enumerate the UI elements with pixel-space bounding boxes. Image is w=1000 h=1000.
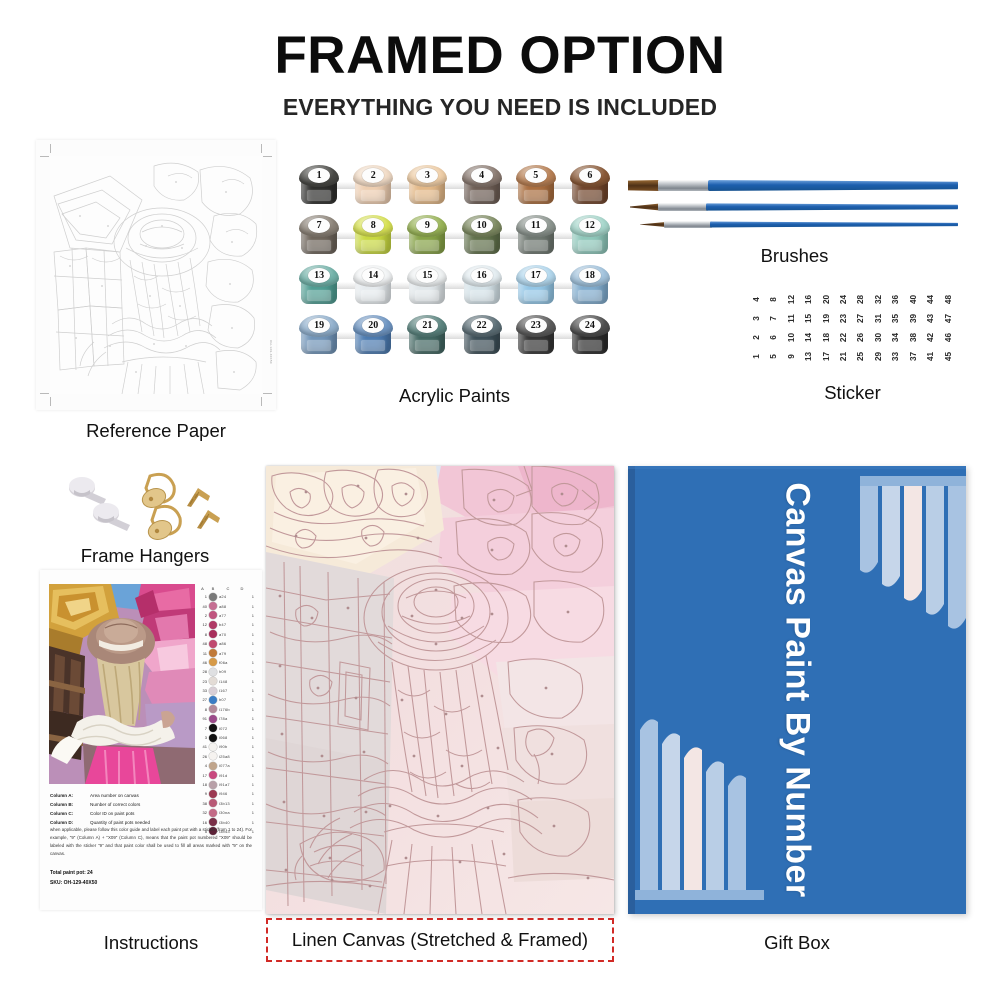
- legend-quantity: 1: [252, 773, 254, 778]
- sticker-number: 37: [904, 348, 923, 365]
- legend-quantity: 1: [252, 697, 254, 702]
- frame-hangers-illustration: [58, 468, 236, 546]
- legend-quantity: 1: [252, 651, 254, 656]
- caption-gift-box: Gift Box: [628, 932, 966, 954]
- paint-pot-number: 16: [471, 268, 493, 283]
- page-subtitle: EVERYTHING YOU NEED IS INCLUDED: [0, 94, 1000, 121]
- caption-sticker: Sticker: [740, 382, 965, 404]
- legend-area-number: 3: [198, 735, 207, 740]
- paint-pot-number: 9: [416, 218, 438, 233]
- paint-pot: 8: [353, 215, 393, 256]
- paint-pot: 15: [407, 265, 447, 306]
- legend-color-swatch: [209, 752, 217, 760]
- paint-pot-number: 22: [471, 318, 493, 333]
- paint-pot-number: 20: [362, 318, 384, 333]
- linen-canvas-item: [266, 466, 614, 914]
- legend-row: 23i1481: [198, 677, 254, 686]
- brush-flat-handle: [708, 180, 958, 191]
- caption-linen-canvas: Linen Canvas (Stretched & Framed): [268, 920, 612, 960]
- paint-pot: 7: [299, 215, 339, 256]
- legend-row: 1a241: [198, 592, 254, 601]
- legend-area-number: 2: [198, 613, 207, 618]
- paint-pot: 20: [353, 315, 393, 356]
- sticker-number: 13: [799, 348, 818, 365]
- gift-box-body: Canvas Paint By Number: [628, 466, 966, 914]
- legend-color-swatch: [209, 677, 217, 685]
- paint-pot-number: 14: [362, 268, 384, 283]
- legend-area-number: 11: [198, 651, 207, 656]
- legend-color-code: a88: [219, 604, 226, 609]
- sticker-number: 14: [799, 329, 818, 346]
- crop-mark-bl-v: [50, 397, 51, 406]
- paint-pot-number: 18: [579, 268, 601, 283]
- sticker-number: 8: [765, 291, 784, 308]
- legend-color-code: i077a: [219, 763, 230, 768]
- brush-flat-ferrule: [658, 180, 710, 191]
- sticker-number: 36: [887, 291, 906, 308]
- legend-color-swatch: [209, 602, 217, 610]
- legend-color-code: i91d: [219, 773, 227, 778]
- legend-color-code: i167: [219, 688, 227, 693]
- crop-mark-br-v: [261, 397, 262, 406]
- legend-color-code: i072: [219, 726, 227, 731]
- legend-area-number: 17: [198, 773, 207, 778]
- legend-header-row: ABCD: [198, 584, 254, 592]
- legend-color-code: h09: [219, 669, 226, 674]
- screw-2: [197, 510, 220, 529]
- legend-color-swatch: [209, 705, 217, 713]
- brush-fine-handle: [710, 221, 958, 228]
- legend-quantity: 1: [252, 679, 254, 684]
- legend-color-code: a79: [219, 651, 226, 656]
- legend-row: 2a771: [198, 611, 254, 620]
- sticker-number: 25: [852, 348, 871, 365]
- legend-color-swatch: [209, 630, 217, 638]
- legend-area-number: 12: [198, 622, 207, 627]
- paint-pot-number: 8: [362, 218, 384, 233]
- legend-quantity: 1: [252, 810, 254, 815]
- legend-row: 8i176b1: [198, 705, 254, 714]
- caption-instructions: Instructions: [40, 932, 262, 954]
- legend-row: 46f06a1: [198, 658, 254, 667]
- legend-color-swatch: [209, 762, 217, 770]
- crop-mark-tr-v: [261, 144, 262, 153]
- legend-quantity: 1: [252, 604, 254, 609]
- legend-quantity: 1: [252, 754, 254, 759]
- legend-area-number: 33: [198, 688, 207, 693]
- total-paint-pots-value: 24: [87, 870, 93, 876]
- legend-area-number: 91: [198, 716, 207, 721]
- legend-color-code: i176b: [219, 707, 230, 712]
- page-title: FRAMED OPTION: [0, 28, 1000, 84]
- paint-pot-number: 24: [579, 318, 601, 333]
- instruction-column-desc: Area number on canvas: [90, 792, 139, 801]
- paint-pot-number: 4: [471, 168, 493, 183]
- sticker-number: 34: [887, 329, 906, 346]
- legend-row: 48a861: [198, 639, 254, 648]
- legend-area-number: 8: [198, 632, 207, 637]
- sticker-number: 17: [817, 348, 836, 365]
- caption-frame-hangers: Frame Hangers: [20, 545, 270, 567]
- instruction-column-row: Column B:Number of correct colors: [50, 801, 250, 810]
- paint-pot-number: 2: [362, 168, 384, 183]
- sticker-number: 5: [765, 348, 784, 365]
- legend-quantity: 1: [252, 632, 254, 637]
- instructions-item: ABCD1a24140a8812a77112b4718a70148a86111a…: [40, 570, 262, 910]
- sticker-number: 27: [852, 310, 871, 327]
- legend-color-swatch: [209, 658, 217, 666]
- legend-quantity: 1: [252, 594, 254, 599]
- paint-pot: 11: [516, 215, 556, 256]
- legend-color-code: i91a7: [219, 782, 230, 787]
- screw-1: [187, 488, 210, 507]
- legend-area-number: 40: [198, 604, 207, 609]
- paint-pot-number: 3: [416, 168, 438, 183]
- sticker-number: 20: [817, 291, 836, 308]
- legend-color-code: i90b: [219, 744, 227, 749]
- paint-pot: 1: [299, 165, 339, 206]
- paint-pot: 5: [516, 165, 556, 206]
- legend-color-swatch: [209, 734, 217, 742]
- brush-medium-bristles: [630, 203, 660, 211]
- legend-header-cell: B: [209, 586, 217, 591]
- legend-area-number: 27: [198, 697, 207, 702]
- legend-color-swatch: [209, 611, 217, 619]
- legend-row: 40a881: [198, 601, 254, 610]
- caption-acrylic-paints: Acrylic Paints: [292, 385, 617, 407]
- sticker-number: 44: [921, 291, 940, 308]
- legend-quantity: 1: [252, 744, 254, 749]
- frame-hangers-item: [58, 468, 236, 546]
- paint-pot: 14: [353, 265, 393, 306]
- sticker-number: 45: [939, 348, 958, 365]
- legend-header-cell: C: [219, 586, 237, 591]
- legend-color-swatch: [209, 715, 217, 723]
- brush-fine-ferrule: [664, 221, 712, 228]
- gift-box-label: Canvas Paint By Number: [778, 482, 817, 897]
- product-infographic: FRAMED OPTION EVERYTHING YOU NEED IS INC…: [0, 0, 1000, 1000]
- reference-paper-item: OH-129-40X50: [36, 140, 276, 410]
- sticker-number: 16: [799, 291, 818, 308]
- paint-pot: 3: [407, 165, 447, 206]
- brush-flat-bristles: [628, 180, 660, 191]
- legend-header-cell: A: [198, 586, 207, 591]
- sticker-number: 15: [799, 310, 818, 327]
- reference-paper-lineart: [50, 156, 262, 394]
- brush-flat: [628, 180, 958, 191]
- sticker-number: 10: [782, 329, 801, 346]
- paint-pot-number: 12: [579, 218, 601, 233]
- legend-area-number: 23: [198, 679, 207, 684]
- legend-color-swatch: [209, 621, 217, 629]
- linen-canvas-highlight-box: Linen Canvas (Stretched & Framed): [266, 918, 614, 962]
- legend-quantity: 1: [252, 801, 254, 806]
- paint-pot: 2: [353, 165, 393, 206]
- paint-pot-number: 5: [525, 168, 547, 183]
- sticker-number: 12: [782, 291, 801, 308]
- linen-canvas-artwork: [266, 466, 614, 914]
- legend-quantity: 1: [252, 641, 254, 646]
- legend-color-swatch: [209, 593, 217, 601]
- legend-quantity: 1: [252, 688, 254, 693]
- paint-pot: 9: [407, 215, 447, 256]
- legend-quantity: 1: [252, 735, 254, 740]
- legend-quantity: 1: [252, 707, 254, 712]
- paint-pot: 24: [570, 315, 610, 356]
- instructions-note: when applicable, please follow this colo…: [50, 826, 252, 859]
- crop-mark-tr-h: [263, 156, 272, 157]
- legend-area-number: 4: [198, 763, 207, 768]
- legend-color-code: b47: [219, 622, 226, 627]
- legend-quantity: 1: [252, 622, 254, 627]
- legend-color-swatch: [209, 668, 217, 676]
- legend-quantity: 1: [252, 726, 254, 731]
- legend-color-code: a70: [219, 632, 226, 637]
- sticker-number: 41: [921, 348, 940, 365]
- paint-pot-number: 21: [416, 318, 438, 333]
- legend-quantity: 1: [252, 660, 254, 665]
- sticker-number: 9: [782, 348, 801, 365]
- legend-area-number: 1: [198, 594, 207, 599]
- sticker-number: 46: [939, 329, 958, 346]
- paint-pot: 12: [570, 215, 610, 256]
- legend-row: 17i91d1: [198, 770, 254, 779]
- legend-area-number: 41: [198, 744, 207, 749]
- sticker-number: 39: [904, 310, 923, 327]
- legend-quantity: 1: [252, 669, 254, 674]
- paint-pot: 4: [462, 165, 502, 206]
- paint-pot: 16: [462, 265, 502, 306]
- legend-area-number: 46: [198, 660, 207, 665]
- legend-area-number: 18: [198, 782, 207, 787]
- paint-pot: 17: [516, 265, 556, 306]
- gift-box-item: Canvas Paint By Number: [628, 466, 966, 914]
- sticker-number-grid: 4812162024283236404448371115192327313539…: [748, 290, 957, 366]
- instruction-column-key: Column B:: [50, 801, 84, 810]
- sku-value: OH-129-40X50: [64, 880, 98, 886]
- crop-mark-tl-v: [50, 144, 51, 153]
- legend-row: 7i0721: [198, 723, 254, 732]
- paint-pot: 18: [570, 265, 610, 306]
- sticker-number: 35: [887, 310, 906, 327]
- paint-pot: 23: [516, 315, 556, 356]
- paint-pot-number: 13: [308, 268, 330, 283]
- sticker-number: 7: [765, 310, 784, 327]
- legend-quantity: 1: [252, 716, 254, 721]
- legend-color-swatch: [209, 771, 217, 779]
- legend-row: 18i91a71: [198, 780, 254, 789]
- paint-pot: 21: [407, 315, 447, 356]
- legend-row: 91i78a1: [198, 714, 254, 723]
- paint-pot-number: 10: [471, 218, 493, 233]
- legend-color-swatch: [209, 696, 217, 704]
- legend-quantity: 1: [252, 763, 254, 768]
- sticker-number: 6: [765, 329, 784, 346]
- legend-color-swatch: [209, 687, 217, 695]
- sticker-number: 40: [904, 291, 923, 308]
- instruction-column-desc: Color ID on paint pots: [90, 810, 134, 819]
- legend-area-number: 26: [198, 754, 207, 759]
- legend-color-code: a24: [219, 594, 226, 599]
- instruction-column-key: Column A:: [50, 792, 84, 801]
- legend-color-swatch: [209, 649, 217, 657]
- legend-color-code: a77: [219, 613, 226, 618]
- sku-label: SKU:: [50, 880, 62, 886]
- header: FRAMED OPTION EVERYTHING YOU NEED IS INC…: [0, 28, 1000, 121]
- sticker-number: 28: [852, 291, 871, 308]
- sticker-sheet: 4812162024283236404448371115192327313539…: [740, 282, 965, 374]
- wall-plug-2: [93, 503, 130, 531]
- paint-pot-number: 15: [416, 268, 438, 283]
- brush-medium: [630, 203, 958, 211]
- legend-color-code: i78a: [219, 716, 227, 721]
- instruction-column-key: Column C:: [50, 810, 84, 819]
- paint-pot-number: 11: [525, 218, 547, 233]
- brush-fine-bristles: [640, 221, 666, 228]
- sticker-number: 33: [887, 348, 906, 365]
- legend-row: 27h071: [198, 695, 254, 704]
- brush-medium-ferrule: [658, 203, 708, 211]
- sticker-number: 48: [939, 291, 958, 308]
- brush-fine: [640, 221, 958, 228]
- legend-row: 41i90b1: [198, 742, 254, 751]
- legend-row: 26i25a81: [198, 752, 254, 761]
- legend-row: 12b471: [198, 620, 254, 629]
- instructions-sheet: ABCD1a24140a8812a77112b4718a70148a86111a…: [40, 570, 262, 910]
- instructions-thumbnail: [49, 584, 195, 784]
- instructions-column-key: Column A:Area number on canvasColumn B:N…: [50, 792, 250, 828]
- legend-color-swatch: [209, 724, 217, 732]
- legend-area-number: 7: [198, 726, 207, 731]
- brush-medium-handle: [706, 203, 958, 211]
- sticker-number: 11: [782, 310, 801, 327]
- legend-color-code: i25a8: [219, 754, 230, 759]
- legend-row: 3i0681: [198, 733, 254, 742]
- legend-area-number: 28: [198, 669, 207, 674]
- legend-area-number: 48: [198, 641, 207, 646]
- legend-header-cell: D: [239, 586, 245, 591]
- sku-line: SKU: OH-129-40X50: [50, 879, 252, 889]
- sticker-number: 47: [939, 310, 958, 327]
- legend-row: 11a791: [198, 648, 254, 657]
- legend-color-code: h07: [219, 697, 226, 702]
- paint-pot-grid: 123456789101112131415161718192021222324: [292, 160, 617, 360]
- linen-canvas-frame: [266, 466, 614, 914]
- legend-color-code: f06a: [219, 660, 228, 665]
- wall-plug-1: [69, 477, 106, 505]
- paint-pot-number: 1: [308, 168, 330, 183]
- legend-quantity: 1: [252, 791, 254, 796]
- paint-pot-number: 19: [308, 318, 330, 333]
- instruction-column-desc: Number of correct colors: [90, 801, 140, 810]
- legend-row: 8a701: [198, 630, 254, 639]
- total-paint-pots-line: Total paint pot: 24: [50, 869, 252, 879]
- legend-quantity: 1: [252, 782, 254, 787]
- sticker-number: 42: [921, 329, 940, 346]
- sticker-number: 19: [817, 310, 836, 327]
- paint-pot-number: 17: [525, 268, 547, 283]
- sticker-number: 38: [904, 329, 923, 346]
- paint-pot: 19: [299, 315, 339, 356]
- instruction-column-row: Column C:Color ID on paint pots: [50, 810, 250, 819]
- legend-row: 4i077a1: [198, 761, 254, 770]
- total-paint-pots-label: Total paint pot:: [50, 870, 86, 876]
- crop-mark-bl-h: [40, 393, 49, 394]
- paint-pot-number: 7: [308, 218, 330, 233]
- paint-pot: 22: [462, 315, 502, 356]
- legend-quantity: 1: [252, 820, 254, 825]
- paint-pot-number: 6: [579, 168, 601, 183]
- caption-brushes: Brushes: [622, 245, 967, 267]
- sticker-item: 4812162024283236404448371115192327313539…: [740, 282, 965, 374]
- legend-row: 28h091: [198, 667, 254, 676]
- reference-paper-side-text: OH-129-40X50: [269, 340, 273, 364]
- reference-paper-sheet: OH-129-40X50: [36, 140, 276, 410]
- sticker-number: 18: [817, 329, 836, 346]
- legend-area-number: 8: [198, 707, 207, 712]
- paint-pot: 13: [299, 265, 339, 306]
- legend-color-swatch: [209, 640, 217, 648]
- legend-quantity: 1: [252, 613, 254, 618]
- sticker-number: 43: [921, 310, 940, 327]
- d-ring-hanger-2: [146, 506, 181, 542]
- paint-pot-number: 23: [525, 318, 547, 333]
- sticker-number: 26: [852, 329, 871, 346]
- legend-color-swatch: [209, 781, 217, 789]
- legend-color-code: i068: [219, 735, 227, 740]
- legend-quantity: 1: [252, 829, 254, 834]
- instructions-footer: Total paint pot: 24 SKU: OH-129-40X50: [50, 869, 252, 888]
- caption-reference-paper: Reference Paper: [36, 420, 276, 442]
- legend-color-code: i148: [219, 679, 227, 684]
- crop-mark-br-h: [263, 393, 272, 394]
- acrylic-paints-item: 123456789101112131415161718192021222324: [292, 160, 617, 360]
- crop-mark-tl-h: [40, 156, 49, 157]
- legend-color-code: a86: [219, 641, 226, 646]
- instruction-column-row: Column A:Area number on canvas: [50, 792, 250, 801]
- paint-pot: 6: [570, 165, 610, 206]
- legend-color-swatch: [209, 743, 217, 751]
- paint-pot: 10: [462, 215, 502, 256]
- legend-row: 33i1671: [198, 686, 254, 695]
